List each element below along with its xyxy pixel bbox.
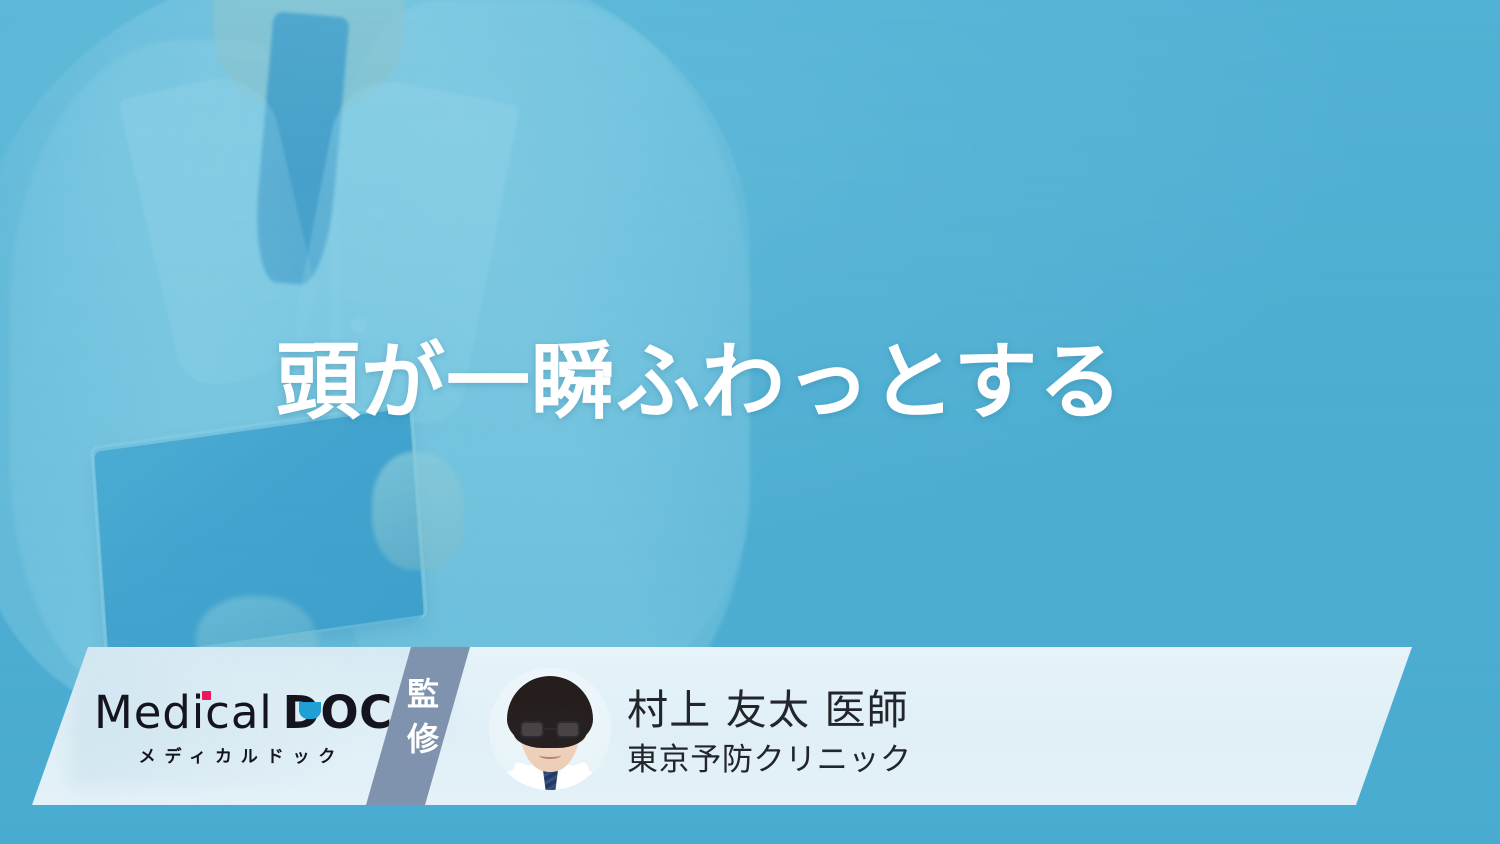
avatar-necktie xyxy=(543,770,558,790)
avatar xyxy=(489,668,611,790)
supervision-badge-label: 監修 xyxy=(396,672,450,763)
brand-logo-primary: Medical xyxy=(94,686,273,739)
clinic-name: 東京予防クリニック xyxy=(627,743,912,779)
thumbnail-canvas: 頭が一瞬ふわっとする MedicalDOC メディカルドック 監修 xyxy=(0,0,1500,844)
brand-logo[interactable]: MedicalDOC メディカルドック xyxy=(94,690,380,767)
glasses-lens-right xyxy=(556,721,580,738)
brand-logo-wordmark: MedicalDOC xyxy=(94,690,393,735)
glasses-lens-left xyxy=(520,721,544,738)
avatar-mouth xyxy=(539,752,561,759)
logo-o-fill-icon xyxy=(299,702,321,719)
glasses-icon xyxy=(520,721,580,738)
page-title: 頭が一瞬ふわっとする xyxy=(276,338,1276,427)
glasses-bridge xyxy=(544,728,556,730)
brand-logo-kana: メディカルドック xyxy=(94,742,380,767)
doctor-info: 村上 友太 医師 東京予防クリニック xyxy=(627,686,912,779)
logo-i-dot-icon xyxy=(202,691,211,700)
doctor-name: 村上 友太 医師 xyxy=(627,686,912,734)
